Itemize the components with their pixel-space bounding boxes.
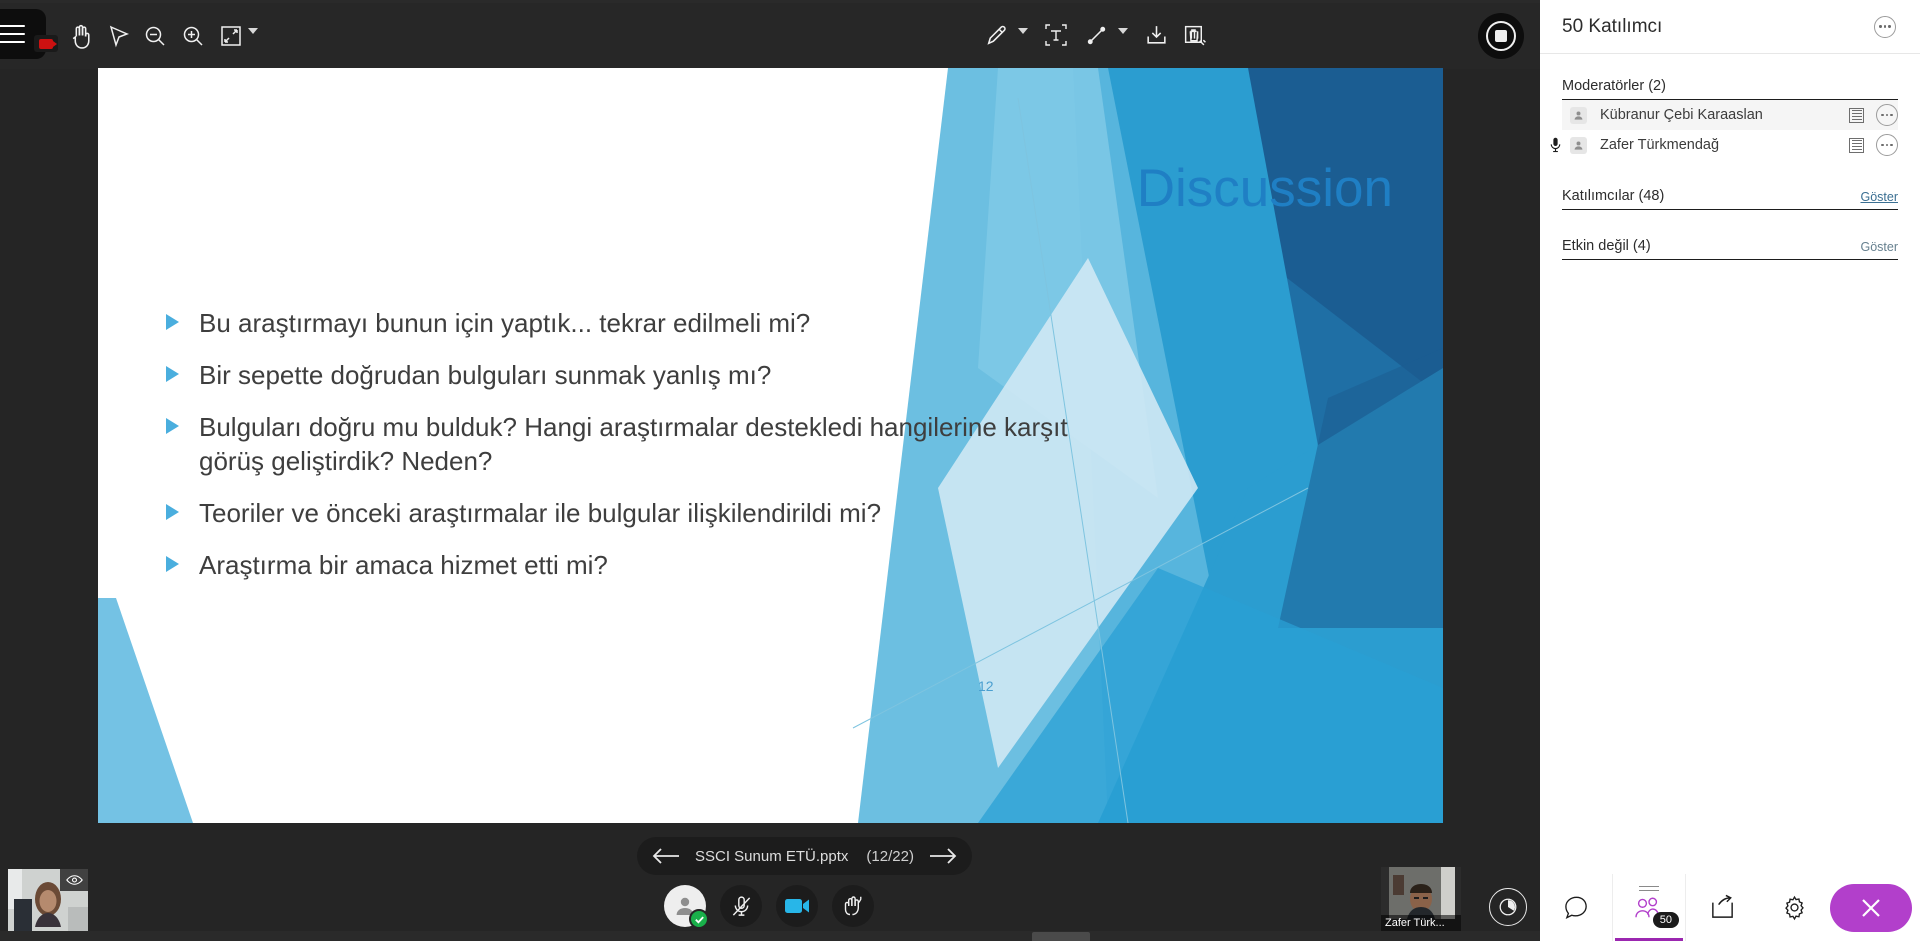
- recording-indicator-icon: [34, 35, 58, 52]
- chat-bubble-icon: [1563, 894, 1590, 921]
- leave-session-button[interactable]: [1830, 884, 1912, 932]
- raise-hand-button[interactable]: [832, 885, 874, 927]
- cursor-icon: [108, 24, 130, 48]
- ellipsis-icon: [1879, 25, 1890, 27]
- bullet-arrow-icon: [166, 556, 182, 574]
- zoom-in-icon: [181, 24, 205, 48]
- participants-count-title: 50 Katılımcı: [1562, 16, 1662, 38]
- select-tool-button[interactable]: [104, 21, 134, 51]
- section-header-participants: Katılımcılar (48) Göster: [1562, 188, 1898, 210]
- slide-canvas[interactable]: Discussion Bu araştırmayı bunun için yap…: [98, 68, 1443, 823]
- presentation-file-name: SSCI Sunum ETÜ.pptx: [695, 848, 848, 865]
- previous-slide-button[interactable]: [651, 846, 681, 866]
- panel-options-button[interactable]: [1874, 16, 1896, 38]
- slide-bullet-text: Bulguları doğru mu bulduk? Hangi araştır…: [199, 410, 1076, 480]
- line-icon: [1084, 23, 1109, 48]
- section-title: Moderatörler (2): [1562, 78, 1666, 94]
- slide-counter: (12/22): [866, 848, 914, 865]
- slide-bullet-item: Bulguları doğru mu bulduk? Hangi araştır…: [166, 410, 1076, 480]
- ellipsis-icon: [1881, 144, 1892, 146]
- zoom-in-button[interactable]: [178, 21, 208, 51]
- slide-bullet-list: Bu araştırmayı bunun için yaptık... tekr…: [166, 306, 1076, 600]
- slide-page-number: 12: [978, 678, 994, 694]
- slide-bullet-text: Bu araştırmayı bunun için yaptık... tekr…: [199, 306, 810, 341]
- text-box-icon: [1043, 22, 1069, 48]
- participants-button[interactable]: 50: [1612, 874, 1686, 941]
- section-header-moderators: Moderatörler (2): [1562, 78, 1898, 100]
- chevron-down-icon: [1018, 28, 1028, 34]
- self-webcam-tile[interactable]: [8, 869, 88, 931]
- participants-panel-body: Moderatörler (2) Kübranur Çebi Karaaslan: [1540, 54, 1920, 874]
- slide-bullet-item: Bu araştırmayı bunun için yaptık... tekr…: [166, 306, 1076, 341]
- meeting-action-bar: [664, 885, 874, 927]
- slide-bullet-item: Teoriler ve önceki araştırmalar ile bulg…: [166, 496, 1076, 531]
- chevron-down-icon: [248, 28, 258, 34]
- clear-annotations-button[interactable]: [1178, 19, 1210, 51]
- line-tool-button[interactable]: [1080, 19, 1112, 51]
- section-title: Etkin değil (4): [1562, 238, 1651, 254]
- share-external-icon: [1709, 894, 1736, 921]
- ellipsis-icon: [1881, 114, 1892, 116]
- gear-icon: [1781, 894, 1808, 921]
- microphone-muted-icon: [730, 895, 753, 918]
- close-icon: [1856, 893, 1886, 923]
- participant-actions: [1849, 104, 1898, 126]
- fit-options-caret-button[interactable]: [248, 28, 258, 34]
- raised-hand-icon: [841, 894, 865, 918]
- settings-button[interactable]: [1758, 874, 1830, 941]
- pencil-tool-button[interactable]: [980, 19, 1012, 51]
- show-participants-link[interactable]: Göster: [1860, 190, 1898, 204]
- participant-avatar-icon: [1570, 137, 1587, 154]
- pan-tool-button[interactable]: [66, 21, 96, 51]
- slide-bullet-text: Teoriler ve önceki araştırmalar ile bulg…: [199, 496, 881, 531]
- text-tool-button[interactable]: [1040, 19, 1072, 51]
- zoom-out-icon: [143, 24, 167, 48]
- participant-options-button[interactable]: [1876, 134, 1898, 156]
- microphone-on-icon: [1548, 137, 1562, 153]
- download-button[interactable]: [1140, 19, 1172, 51]
- participant-row[interactable]: Kübranur Çebi Karaaslan: [1562, 100, 1898, 130]
- next-slide-button[interactable]: [928, 846, 958, 866]
- panel-drag-handle-icon[interactable]: [1639, 883, 1659, 894]
- participant-name: Kübranur Çebi Karaaslan: [1600, 107, 1849, 123]
- participant-notes-icon[interactable]: [1849, 138, 1864, 153]
- participant-avatar-icon: [1570, 107, 1587, 124]
- participant-name: Zafer Türkmendağ: [1600, 137, 1849, 153]
- participant-actions: [1849, 134, 1898, 156]
- timer-button[interactable]: [1489, 888, 1527, 926]
- slide-bullet-item: Araştırma bir amaca hizmet etti mi?: [166, 548, 1076, 583]
- bullet-arrow-icon: [166, 314, 182, 332]
- pencil-options-caret-button[interactable]: [1018, 28, 1028, 34]
- section-header-inactive: Etkin değil (4) Göster: [1562, 238, 1898, 260]
- pencil-icon: [984, 23, 1009, 48]
- line-options-caret-button[interactable]: [1118, 28, 1128, 34]
- hamburger-icon: [0, 19, 25, 49]
- scrollbar-thumb[interactable]: [1032, 932, 1090, 941]
- zafer-webcam-label: Zafer Türk...: [1381, 915, 1461, 931]
- video-camera-icon: [784, 896, 810, 916]
- arrow-left-icon: [651, 846, 681, 866]
- presentation-navigation: SSCI Sunum ETÜ.pptx (12/22): [637, 837, 972, 875]
- presentation-stage: Discussion Bu araştırmayı bunun için yap…: [0, 3, 1540, 941]
- stop-recording-icon: [1486, 21, 1516, 51]
- slide-bullet-text: Bir sepette doğrudan bulguları sunmak ya…: [199, 358, 771, 393]
- zoom-out-button[interactable]: [140, 21, 170, 51]
- meeting-screen: Discussion Bu araştırmayı bunun için yap…: [0, 0, 1920, 941]
- toggle-microphone-button[interactable]: [720, 885, 762, 927]
- participant-notes-icon[interactable]: [1849, 108, 1864, 123]
- share-button[interactable]: [1686, 874, 1758, 941]
- chat-button[interactable]: [1540, 874, 1612, 941]
- participant-options-button[interactable]: [1876, 104, 1898, 126]
- bullet-arrow-icon: [166, 504, 182, 522]
- download-icon: [1144, 23, 1169, 48]
- fit-screen-icon: [220, 25, 242, 47]
- toggle-webcam-button[interactable]: [776, 885, 818, 927]
- participants-panel-header: 50 Katılımcı: [1540, 0, 1920, 54]
- connected-check-icon: [689, 909, 709, 929]
- stop-recording-button[interactable]: [1478, 13, 1524, 59]
- trash-page-icon: [1182, 23, 1207, 48]
- horizontal-scrollbar[interactable]: [0, 931, 1540, 941]
- bullet-arrow-icon: [166, 366, 182, 384]
- section-title: Katılımcılar (48): [1562, 188, 1664, 204]
- whiteboard-toolbar: [0, 3, 1540, 69]
- participants-panel: 50 Katılımcı Moderatörler (2) Kübranur Ç…: [1540, 0, 1920, 941]
- zafer-webcam-tile[interactable]: Zafer Türk...: [1381, 867, 1461, 931]
- pie-timer-icon: [1497, 896, 1519, 918]
- slide-title: Discussion: [98, 158, 1393, 219]
- bullet-arrow-icon: [166, 418, 182, 436]
- slide-bullet-text: Araştırma bir amaca hizmet etti mi?: [199, 548, 608, 583]
- fit-to-screen-button[interactable]: [216, 21, 246, 51]
- participant-row[interactable]: Zafer Türkmendağ: [1562, 130, 1898, 160]
- show-inactive-link[interactable]: Göster: [1860, 240, 1898, 254]
- panel-footer-bar: 50: [1540, 874, 1920, 941]
- participants-count-badge: 50: [1653, 912, 1679, 928]
- eye-icon[interactable]: [60, 869, 88, 891]
- hand-icon: [69, 23, 94, 50]
- slide-bullet-item: Bir sepette doğrudan bulguları sunmak ya…: [166, 358, 1076, 393]
- chevron-down-icon: [1118, 28, 1128, 34]
- audio-status-button[interactable]: [664, 885, 706, 927]
- arrow-right-icon: [928, 846, 958, 866]
